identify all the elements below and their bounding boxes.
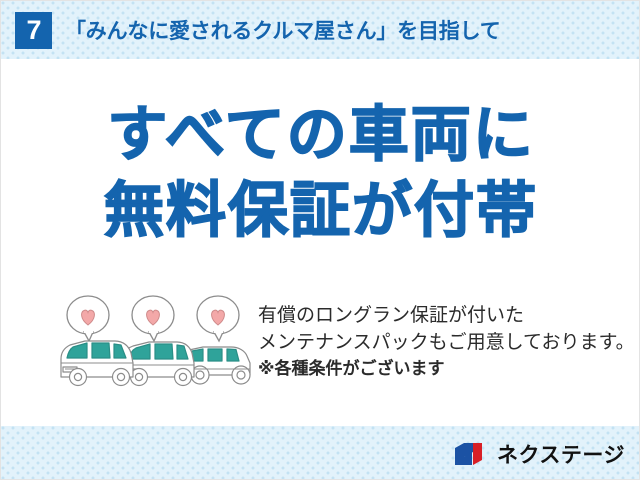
car-kei-wagon-icon <box>61 341 133 386</box>
headline-line-2: 無料保証が付帯 <box>1 173 640 249</box>
step-number-badge: 7 <box>15 12 52 49</box>
body-copy-line-2: メンテナンスパックもご用意しております。 <box>258 329 638 356</box>
heart-bubble-3 <box>197 296 239 341</box>
body-copy: 有償のロングラン保証が付いた メンテナンスパックもご用意しております。 ※各種条… <box>258 302 638 382</box>
content-row: 有償のロングラン保証が付いた メンテナンスパックもご用意しております。 ※各種条… <box>1 293 640 411</box>
header: 7 「みんなに愛されるクルマ屋さん」を目指して <box>1 1 640 59</box>
headline-line-1: すべての車両に <box>1 97 640 173</box>
three-cars-with-heart-bubbles-illustration <box>53 293 257 401</box>
footer-logo: ネクステージ <box>1 426 640 480</box>
footer-logo-wordmark: ネクステージ <box>497 439 625 469</box>
heart-bubble-2 <box>132 296 174 341</box>
body-copy-note: ※各種条件がございます <box>258 356 638 382</box>
body-copy-line-1: 有償のロングラン保証が付いた <box>258 302 638 329</box>
headline: すべての車両に 無料保証が付帯 <box>1 97 640 249</box>
heart-bubble-1 <box>67 296 109 341</box>
nexstage-n-logo-icon <box>454 441 490 467</box>
header-title: 「みんなに愛されるクルマ屋さん」を目指して <box>65 15 501 45</box>
promotional-banner: 7 「みんなに愛されるクルマ屋さん」を目指して すべての車両に 無料保証が付帯 <box>0 0 640 480</box>
